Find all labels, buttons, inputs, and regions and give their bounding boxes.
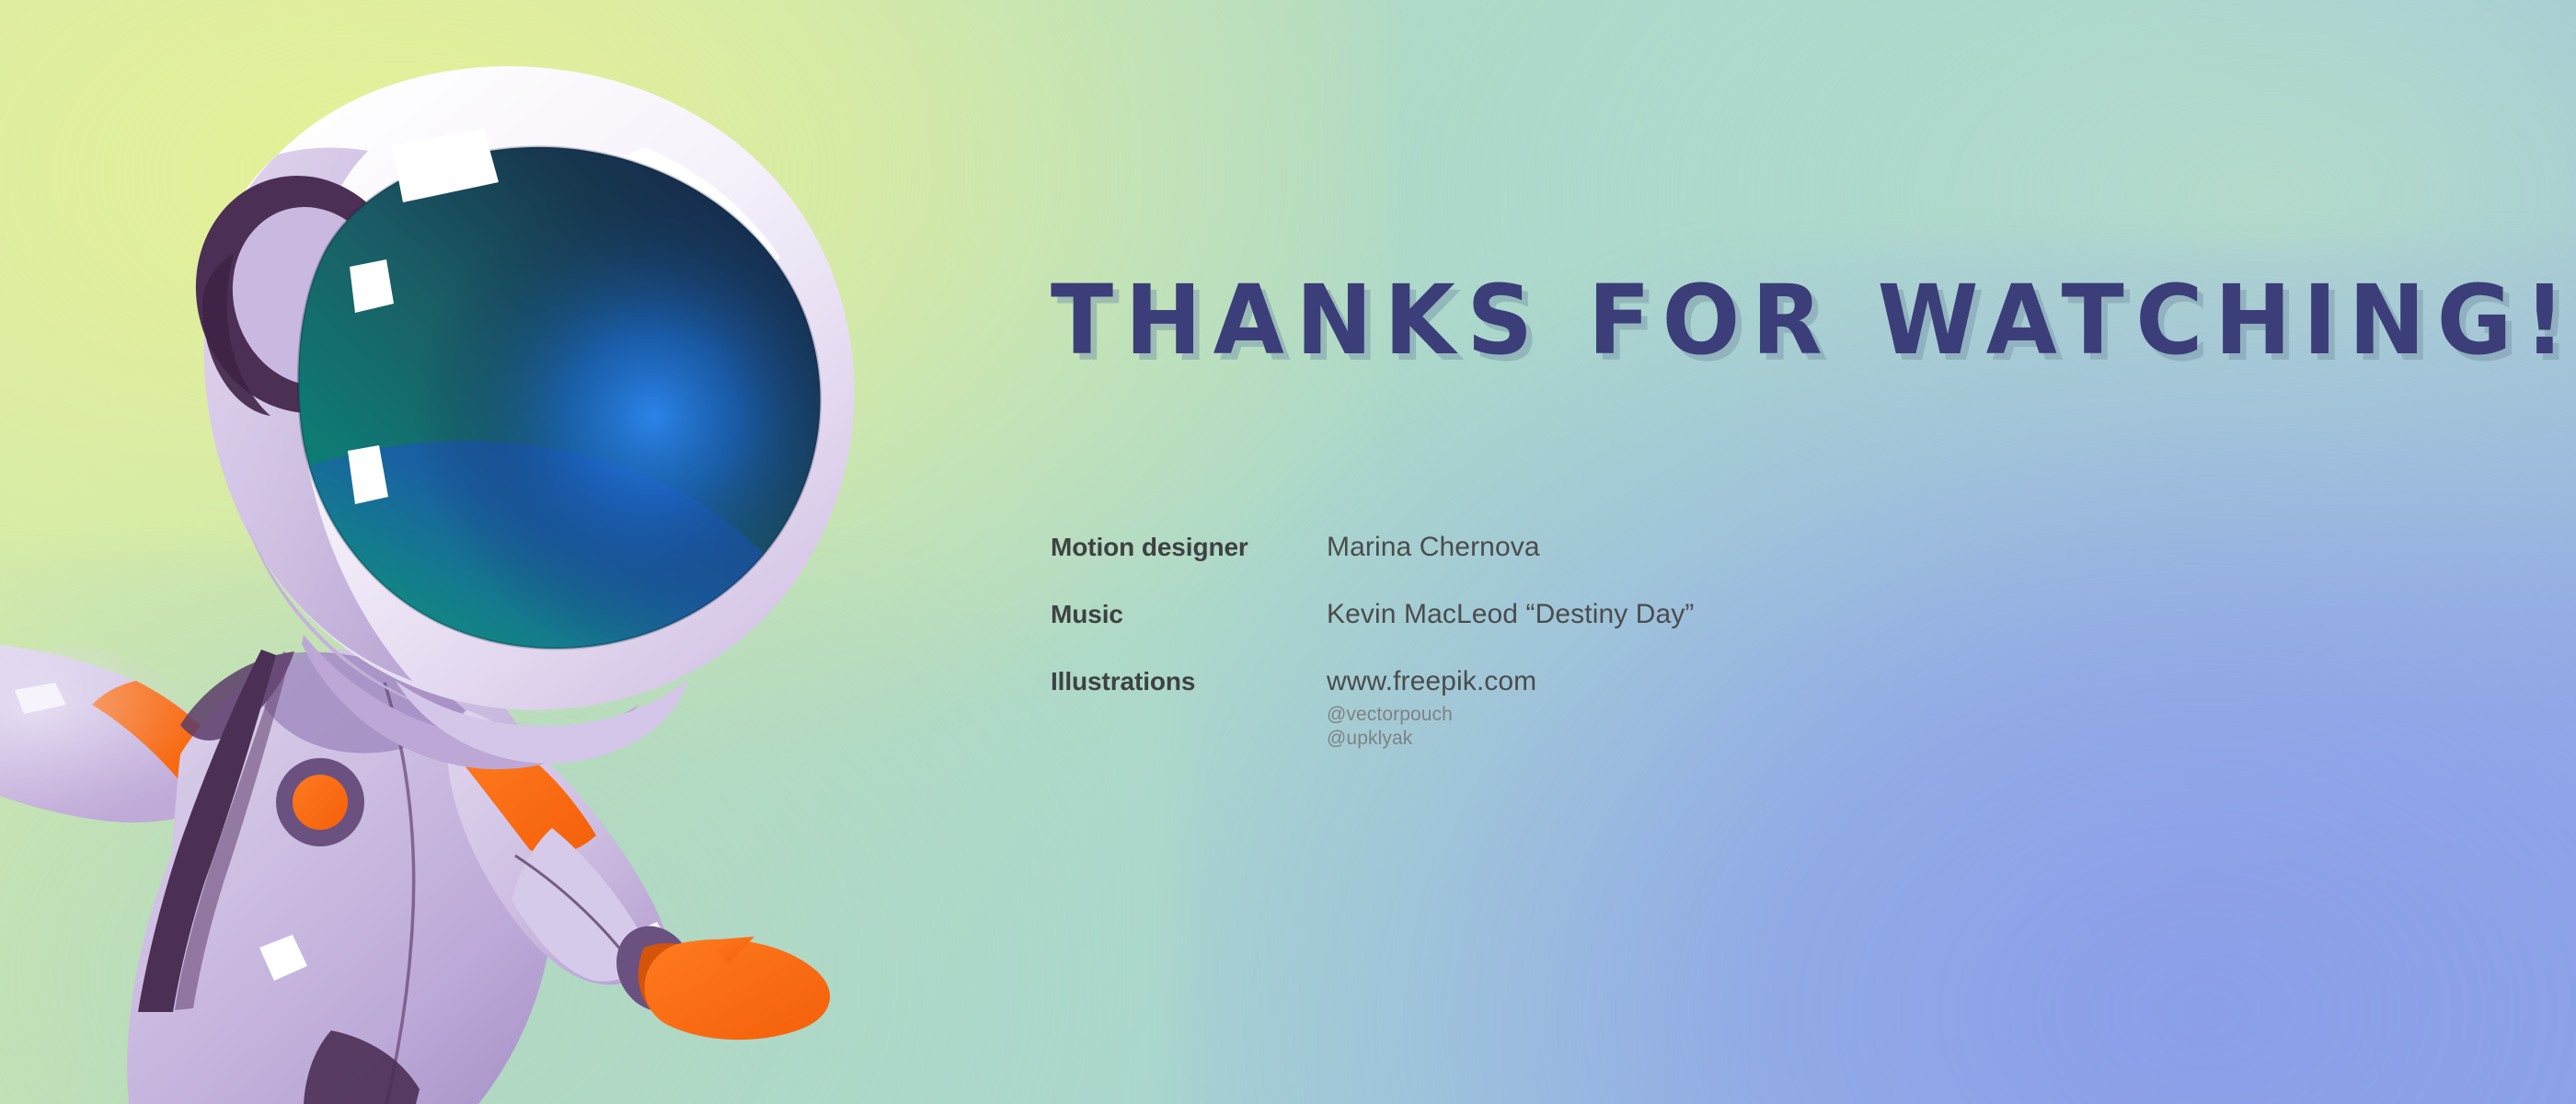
slide-root: THANKS FOR WATCHING! Motion designer Mar… [0, 0, 2576, 1104]
credit-sub-handle-upklyak: @upklyak [1327, 727, 2063, 751]
credit-value-wrap: Marina Chernova [1327, 532, 2063, 563]
credit-value: Kevin MacLeod “Destiny Day” [1327, 599, 2063, 630]
credit-row-illustrations: Illustrations www.freepik.com @vectorpou… [1051, 666, 2063, 751]
credit-sub-handle-vectorpouch: @vectorpouch [1327, 703, 2063, 727]
credits-list: Motion designer Marina Chernova Music Ke… [1051, 532, 2063, 751]
credit-label: Motion designer [1051, 532, 1327, 563]
credit-row-music: Music Kevin MacLeod “Destiny Day” [1051, 599, 2063, 630]
credit-value-wrap: Kevin MacLeod “Destiny Day” [1327, 599, 2063, 630]
page-title: THANKS FOR WATCHING! [1051, 272, 2576, 368]
credit-row-motion-designer: Motion designer Marina Chernova [1051, 532, 2063, 563]
credit-label: Music [1051, 599, 1327, 630]
credit-value: Marina Chernova [1327, 532, 2063, 563]
credit-value-wrap: www.freepik.com @vectorpouch @upklyak [1327, 666, 2063, 751]
credit-value-link[interactable]: www.freepik.com [1327, 666, 2063, 697]
background-glow-bottom-left [0, 552, 1108, 1104]
content-column: THANKS FOR WATCHING! Motion designer Mar… [1051, 0, 2449, 1104]
credit-label: Illustrations [1051, 666, 1327, 697]
